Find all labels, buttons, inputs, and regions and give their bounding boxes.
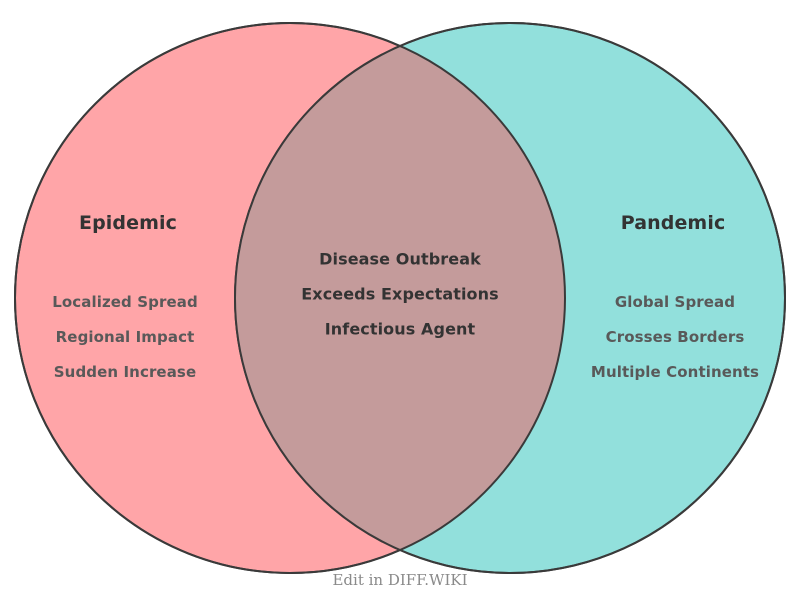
set-item-pandemic-3: Multiple Continents	[591, 363, 759, 381]
set-item-shared-1: Disease Outbreak	[319, 250, 481, 269]
set-item-epidemic-3: Sudden Increase	[54, 363, 196, 381]
edit-in-diffwiki-link[interactable]: Edit in DIFF.WIKI	[332, 571, 467, 589]
set-item-pandemic-2: Crosses Borders	[606, 328, 745, 346]
set-item-shared-3: Infectious Agent	[325, 320, 476, 339]
set-item-pandemic-1: Global Spread	[615, 293, 735, 311]
set-title-epidemic: Epidemic	[79, 212, 177, 234]
set-item-shared-2: Exceeds Expectations	[301, 285, 499, 304]
set-title-pandemic: Pandemic	[621, 212, 726, 234]
set-item-epidemic-2: Regional Impact	[56, 328, 195, 346]
set-item-epidemic-1: Localized Spread	[52, 293, 198, 311]
venn-diagram: Epidemic Localized Spread Regional Impac…	[0, 0, 800, 600]
